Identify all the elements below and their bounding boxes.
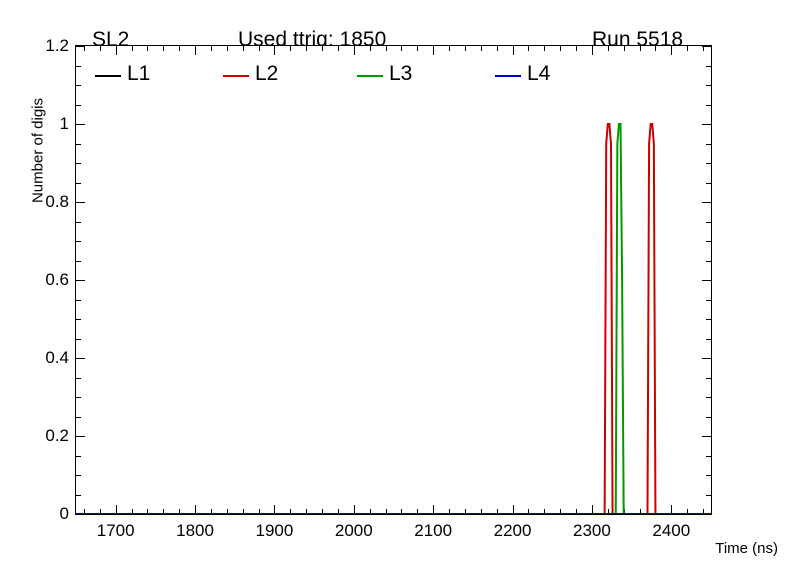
legend-line-icon [223,75,249,77]
y-tick-label: 1.2 [23,36,69,56]
x-tick-label: 2100 [401,521,465,541]
y-tick [76,514,85,515]
legend-line-icon [357,75,383,77]
legend: L1L2L3L4 [95,62,595,90]
y-tick-label: 0.4 [23,348,69,368]
legend-label: L3 [389,62,412,86]
x-tick-label: 2000 [322,521,386,541]
y-tick [702,514,711,515]
y-tick-label: 0 [23,504,69,524]
y-tick-label: 0.2 [23,426,69,446]
y-tick-label: 0.8 [23,192,69,212]
x-tick-label: 2400 [639,521,703,541]
plot-frame [75,45,712,515]
x-tick-label: 1900 [242,521,306,541]
legend-label: L1 [127,62,150,86]
plot-canvas [76,46,711,514]
x-tick-label: 2200 [481,521,545,541]
legend-line-icon [95,75,121,77]
x-tick-label: 2300 [560,521,624,541]
x-tick-label: 1800 [163,521,227,541]
series-l3 [76,124,711,514]
legend-label: L2 [255,62,278,86]
x-tick-label: 1700 [84,521,148,541]
x-axis-title: Time (ns) [715,540,778,557]
legend-label: L4 [527,62,550,86]
legend-line-icon [495,75,521,77]
y-tick-label: 1 [23,114,69,134]
y-tick-label: 0.6 [23,270,69,290]
